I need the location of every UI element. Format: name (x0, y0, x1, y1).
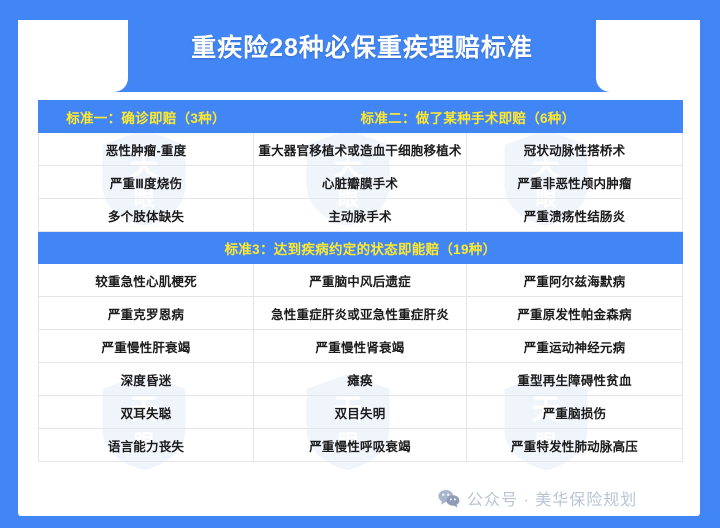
table-row: 严重克罗恩病 急性重症肝炎或亚急性重症肝炎 严重原发性帕金森病 (39, 297, 683, 330)
table-header-row: 标准一：确诊即赔（3种） 标准二：做了某种手术即赔（6种） (39, 101, 683, 133)
table-row: 较重急性心肌梗死 严重脑中风后遗症 严重阿尔兹海默病 (39, 264, 683, 297)
banner-inner: 重疾险28种必保重疾理赔标准 (128, 0, 596, 92)
table-row: 深度昏迷 瘫痪 重型再生障碍性贫血 (39, 363, 683, 396)
table-row: 语言能力丧失 严重慢性呼吸衰竭 严重特发性肺动脉高压 (39, 429, 683, 462)
section1-header-right: 标准二：做了某种手术即赔（6种） (254, 101, 683, 133)
disease-cell: 严重原发性帕金森病 (467, 297, 683, 330)
footer-credit: 公众号 · 美华保险规划 (438, 486, 637, 510)
table-row: 严重Ⅲ度烧伤 心脏瓣膜手术 严重非恶性颅内肿瘤 (39, 166, 683, 199)
disease-cell: 急性重症肝炎或亚急性重症肝炎 (254, 297, 467, 330)
disease-cell: 严重慢性肝衰竭 (39, 330, 254, 363)
disease-cell: 严重溃疡性结肠炎 (467, 199, 683, 232)
disease-cell: 重型再生障碍性贫血 (467, 363, 683, 396)
disease-cell: 严重非恶性颅内肿瘤 (467, 166, 683, 199)
page-title: 重疾险28种必保重疾理赔标准 (191, 28, 533, 64)
disease-cell: 严重脑损伤 (467, 396, 683, 429)
wechat-icon (438, 489, 460, 508)
disease-cell: 严重慢性肾衰竭 (254, 330, 467, 363)
disease-cell: 严重克罗恩病 (39, 297, 254, 330)
disease-cell: 语言能力丧失 (39, 429, 254, 462)
disease-cell: 恶性肿瘤-重度 (39, 133, 254, 166)
disease-cell: 瘫痪 (254, 363, 467, 396)
disease-cell: 双耳失聪 (39, 396, 254, 429)
table: 标准一：确诊即赔（3种） 标准二：做了某种手术即赔（6种） 恶性肿瘤-重度 重大… (38, 100, 683, 462)
table-row: 多个肢体缺失 主动脉手术 严重溃疡性结肠炎 (39, 199, 683, 232)
section2-header-row: 标准3：达到疾病约定的状态即能赔（19种） (39, 232, 683, 264)
disease-cell: 重大器官移植术或造血干细胞移植术 (254, 133, 467, 166)
claim-standards-table: 标准一：确诊即赔（3种） 标准二：做了某种手术即赔（6种） 恶性肿瘤-重度 重大… (38, 100, 682, 492)
section2-header: 标准3：达到疾病约定的状态即能赔（19种） (39, 232, 683, 264)
table-row: 严重慢性肝衰竭 严重慢性肾衰竭 严重运动神经元病 (39, 330, 683, 363)
disease-cell: 多个肢体缺失 (39, 199, 254, 232)
footer-text: 公众号 · 美华保险规划 (467, 486, 637, 510)
disease-cell: 严重运动神经元病 (467, 330, 683, 363)
poster-root: 天眼 天眼 天眼 天眼 天眼 天眼 重疾险28种必保重疾理赔标准 标准一：确诊即… (0, 0, 720, 528)
disease-cell: 双目失明 (254, 396, 467, 429)
table-row: 双耳失聪 双目失明 严重脑损伤 (39, 396, 683, 429)
disease-cell: 严重阿尔兹海默病 (467, 264, 683, 297)
disease-cell: 心脏瓣膜手术 (254, 166, 467, 199)
disease-cell: 主动脉手术 (254, 199, 467, 232)
disease-cell: 严重慢性呼吸衰竭 (254, 429, 467, 462)
banner-notch-left (18, 20, 128, 92)
disease-cell: 严重Ⅲ度烧伤 (39, 166, 254, 199)
banner-notch-right (596, 20, 700, 92)
disease-cell: 冠状动脉性搭桥术 (467, 133, 683, 166)
disease-cell: 较重急性心肌梗死 (39, 264, 254, 297)
header-banner: 重疾险28种必保重疾理赔标准 (18, 0, 700, 92)
section1-header-left: 标准一：确诊即赔（3种） (39, 101, 254, 133)
disease-cell: 严重特发性肺动脉高压 (467, 429, 683, 462)
disease-cell: 严重脑中风后遗症 (254, 264, 467, 297)
disease-cell: 深度昏迷 (39, 363, 254, 396)
table-row: 恶性肿瘤-重度 重大器官移植术或造血干细胞移植术 冠状动脉性搭桥术 (39, 133, 683, 166)
